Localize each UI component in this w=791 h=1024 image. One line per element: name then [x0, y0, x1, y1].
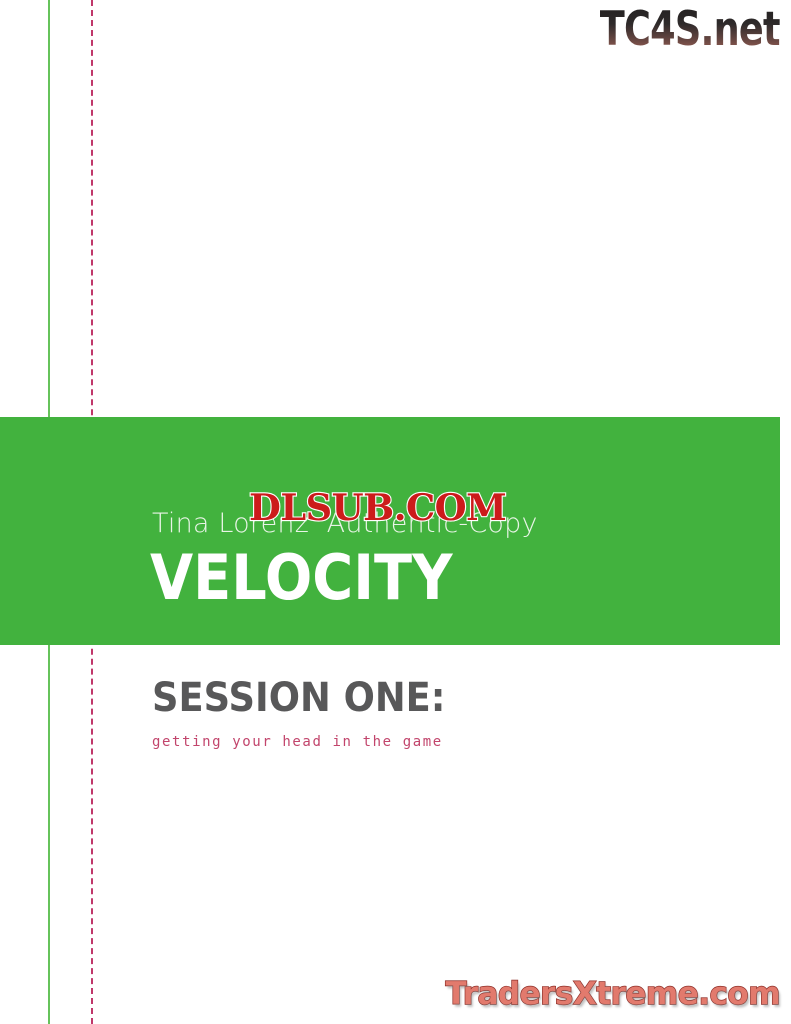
session-heading: SESSION ONE:	[152, 674, 446, 722]
session-tagline: getting your head in the game	[152, 732, 443, 752]
tc4s-watermark: TC4S.net	[600, 4, 780, 56]
document-page: TC4S.net Tina Lorenz Authentic-Copy VELO…	[0, 0, 791, 1024]
tradersxtreme-watermark: TradersXtreme.com	[445, 976, 780, 1012]
cover-title: VELOCITY	[150, 542, 452, 614]
dlsub-watermark: DLSUB.COM	[249, 488, 506, 528]
